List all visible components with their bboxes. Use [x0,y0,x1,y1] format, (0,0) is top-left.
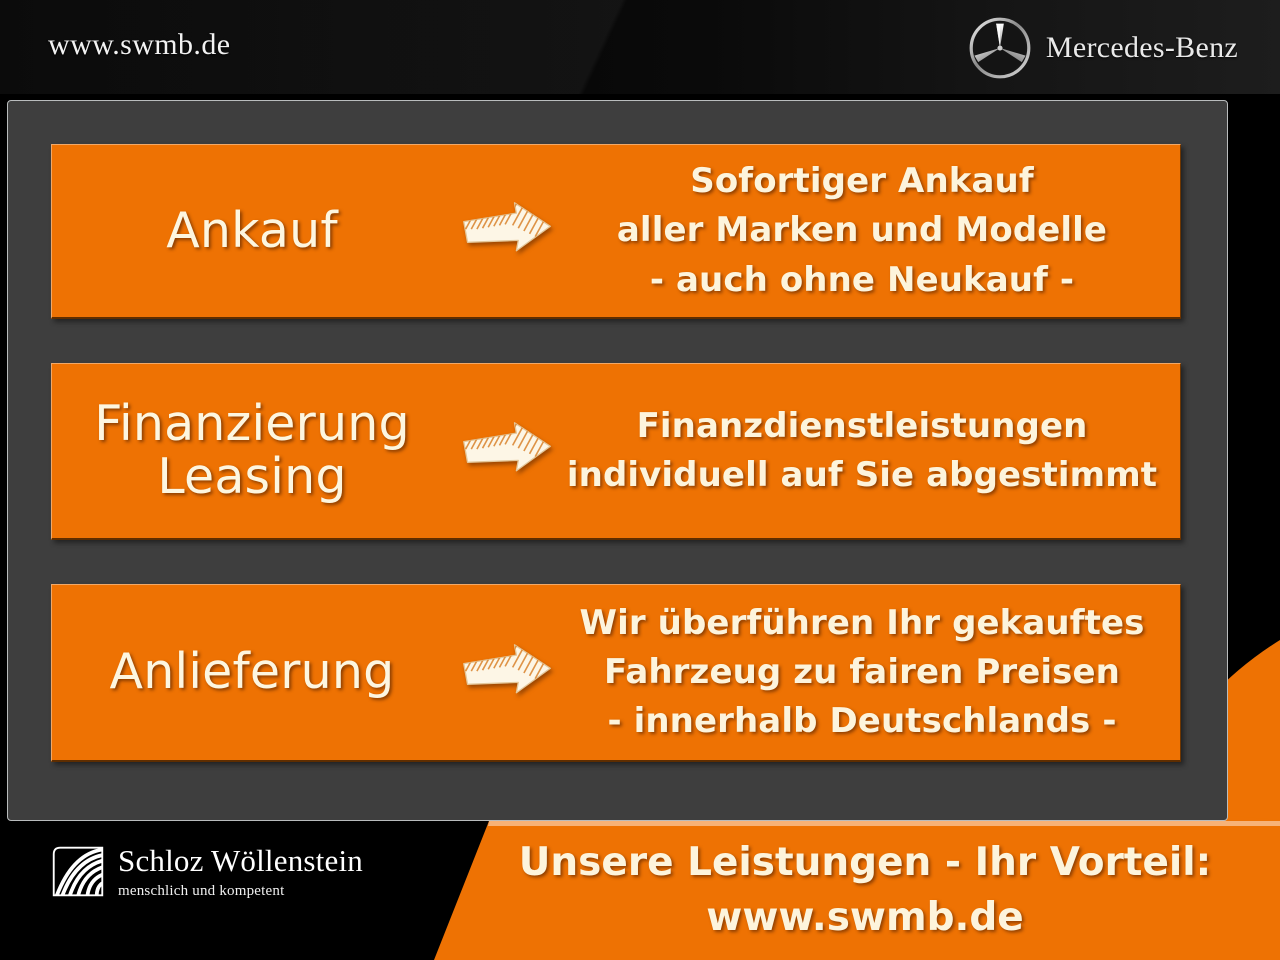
service-row-finanzierung-leasing: Finanzierung Leasing [51,363,1181,540]
footer-bar: Schloz Wöllenstein menschlich und kompet… [0,821,1280,960]
service-title-line: Leasing [52,451,452,504]
service-title-anlieferung: Anlieferung [52,646,452,699]
service-title-line: Anlieferung [52,646,452,699]
service-title-ankauf: Ankauf [52,205,452,258]
service-desc-line: Wir überführen Ihr gekauftes [562,599,1162,648]
sketch-arrow-right-icon [460,642,554,704]
arrow-cell [452,420,562,482]
service-desc-line: Finanzdienstleistungen [562,402,1162,451]
header-website-url: www.swmb.de [48,28,230,62]
service-desc-line: - auch ohne Neukauf - [562,256,1162,305]
services-panel: Ankauf [7,100,1228,821]
arrow-cell [452,642,562,704]
service-desc-line: - innerhalb Deutschlands - [562,697,1162,746]
header-bar: www.swmb.de [0,0,1280,94]
mercedes-benz-brand: Mercedes-Benz [968,16,1238,80]
logo-text-block: Schloz Wöllenstein menschlich und kompet… [118,843,363,900]
company-name: Schloz Wöllenstein [118,845,363,876]
service-title-line: Finanzierung [52,398,452,451]
arrow-cell [452,200,562,262]
sketch-arrow-right-icon [460,420,554,482]
service-desc-line: Sofortiger Ankauf [562,157,1162,206]
service-desc-line: Fahrzeug zu fairen Preisen [562,648,1162,697]
service-desc-finanzierung-leasing: Finanzdienstleistungen individuell auf S… [562,402,1180,501]
service-title-finanzierung-leasing: Finanzierung Leasing [52,398,452,504]
service-title-line: Ankauf [52,205,452,258]
mercedes-benz-wordmark: Mercedes-Benz [1046,31,1238,65]
service-desc-anlieferung: Wir überführen Ihr gekauftes Fahrzeug zu… [562,599,1180,747]
footer-cta-url[interactable]: www.swmb.de [470,890,1260,945]
footer-call-to-action: Unsere Leistungen - Ihr Vorteil: www.swm… [470,835,1260,946]
slide: www.swmb.de [0,0,1280,960]
company-tagline: menschlich und kompetent [118,883,363,900]
service-desc-line: aller Marken und Modelle [562,206,1162,255]
service-desc-ankauf: Sofortiger Ankauf aller Marken und Model… [562,157,1180,305]
sketch-arrow-right-icon [460,200,554,262]
footer-cta-line: Unsere Leistungen - Ihr Vorteil: [470,835,1260,890]
service-desc-line: individuell auf Sie abgestimmt [562,451,1162,500]
service-row-anlieferung: Anlieferung [51,584,1181,762]
schloz-woellenstein-road-logo-icon [50,843,106,899]
schloz-woellenstein-logo: Schloz Wöllenstein menschlich und kompet… [50,843,363,900]
service-row-ankauf: Ankauf [51,144,1181,319]
mercedes-star-icon [968,16,1032,80]
